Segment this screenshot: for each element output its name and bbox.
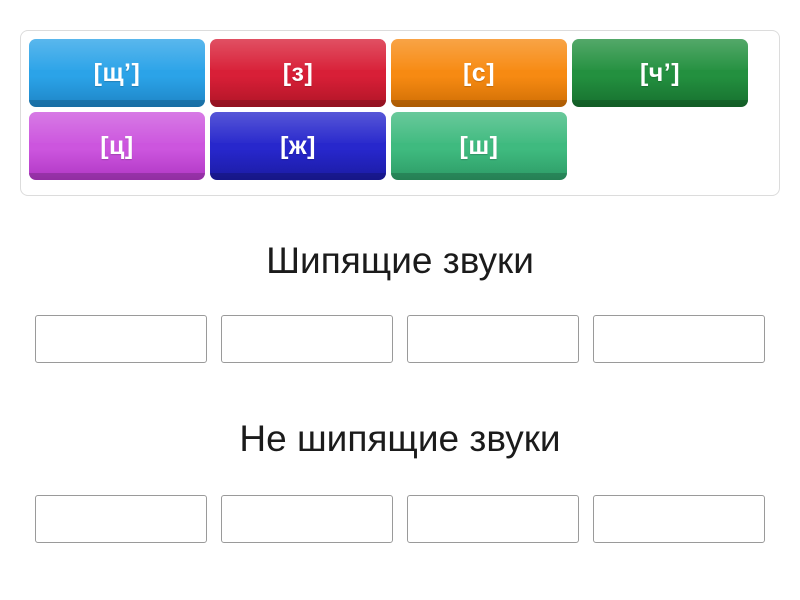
- draggable-tiles-tray: [щ’] [з] [с] [ч’] [ц] [ж] [ш]: [20, 30, 780, 196]
- dropzone-shipyashchie-4[interactable]: [593, 315, 765, 363]
- dropzone-row-ne-shipyashchie: [35, 495, 765, 543]
- category-heading-shipyashchie: Шипящие звуки: [0, 240, 800, 282]
- tile-sh[interactable]: [ш]: [391, 112, 567, 180]
- tile-s[interactable]: [с]: [391, 39, 567, 107]
- tile-label: [ц]: [100, 132, 134, 161]
- tile-label: [ш]: [460, 132, 499, 161]
- tile-row-2: [ц] [ж] [ш]: [29, 112, 771, 180]
- dropzone-shipyashchie-2[interactable]: [221, 315, 393, 363]
- dropzone-ne-shipyashchie-1[interactable]: [35, 495, 207, 543]
- tile-label: [ж]: [280, 132, 316, 161]
- dropzone-ne-shipyashchie-4[interactable]: [593, 495, 765, 543]
- tile-label: [ч’]: [640, 59, 680, 88]
- tile-empty-placeholder: [572, 112, 748, 180]
- tile-z[interactable]: [з]: [210, 39, 386, 107]
- tile-ts[interactable]: [ц]: [29, 112, 205, 180]
- tile-row-1: [щ’] [з] [с] [ч’]: [29, 39, 771, 107]
- dropzone-row-shipyashchie: [35, 315, 765, 363]
- tile-ch[interactable]: [ч’]: [572, 39, 748, 107]
- tile-label: [з]: [283, 59, 314, 88]
- dropzone-ne-shipyashchie-2[interactable]: [221, 495, 393, 543]
- tile-zh[interactable]: [ж]: [210, 112, 386, 180]
- dropzone-shipyashchie-1[interactable]: [35, 315, 207, 363]
- category-heading-ne-shipyashchie: Не шипящие звуки: [0, 418, 800, 460]
- dropzone-shipyashchie-3[interactable]: [407, 315, 579, 363]
- tile-label: [щ’]: [94, 59, 141, 88]
- tile-shch[interactable]: [щ’]: [29, 39, 205, 107]
- dropzone-ne-shipyashchie-3[interactable]: [407, 495, 579, 543]
- tile-label: [с]: [463, 59, 495, 88]
